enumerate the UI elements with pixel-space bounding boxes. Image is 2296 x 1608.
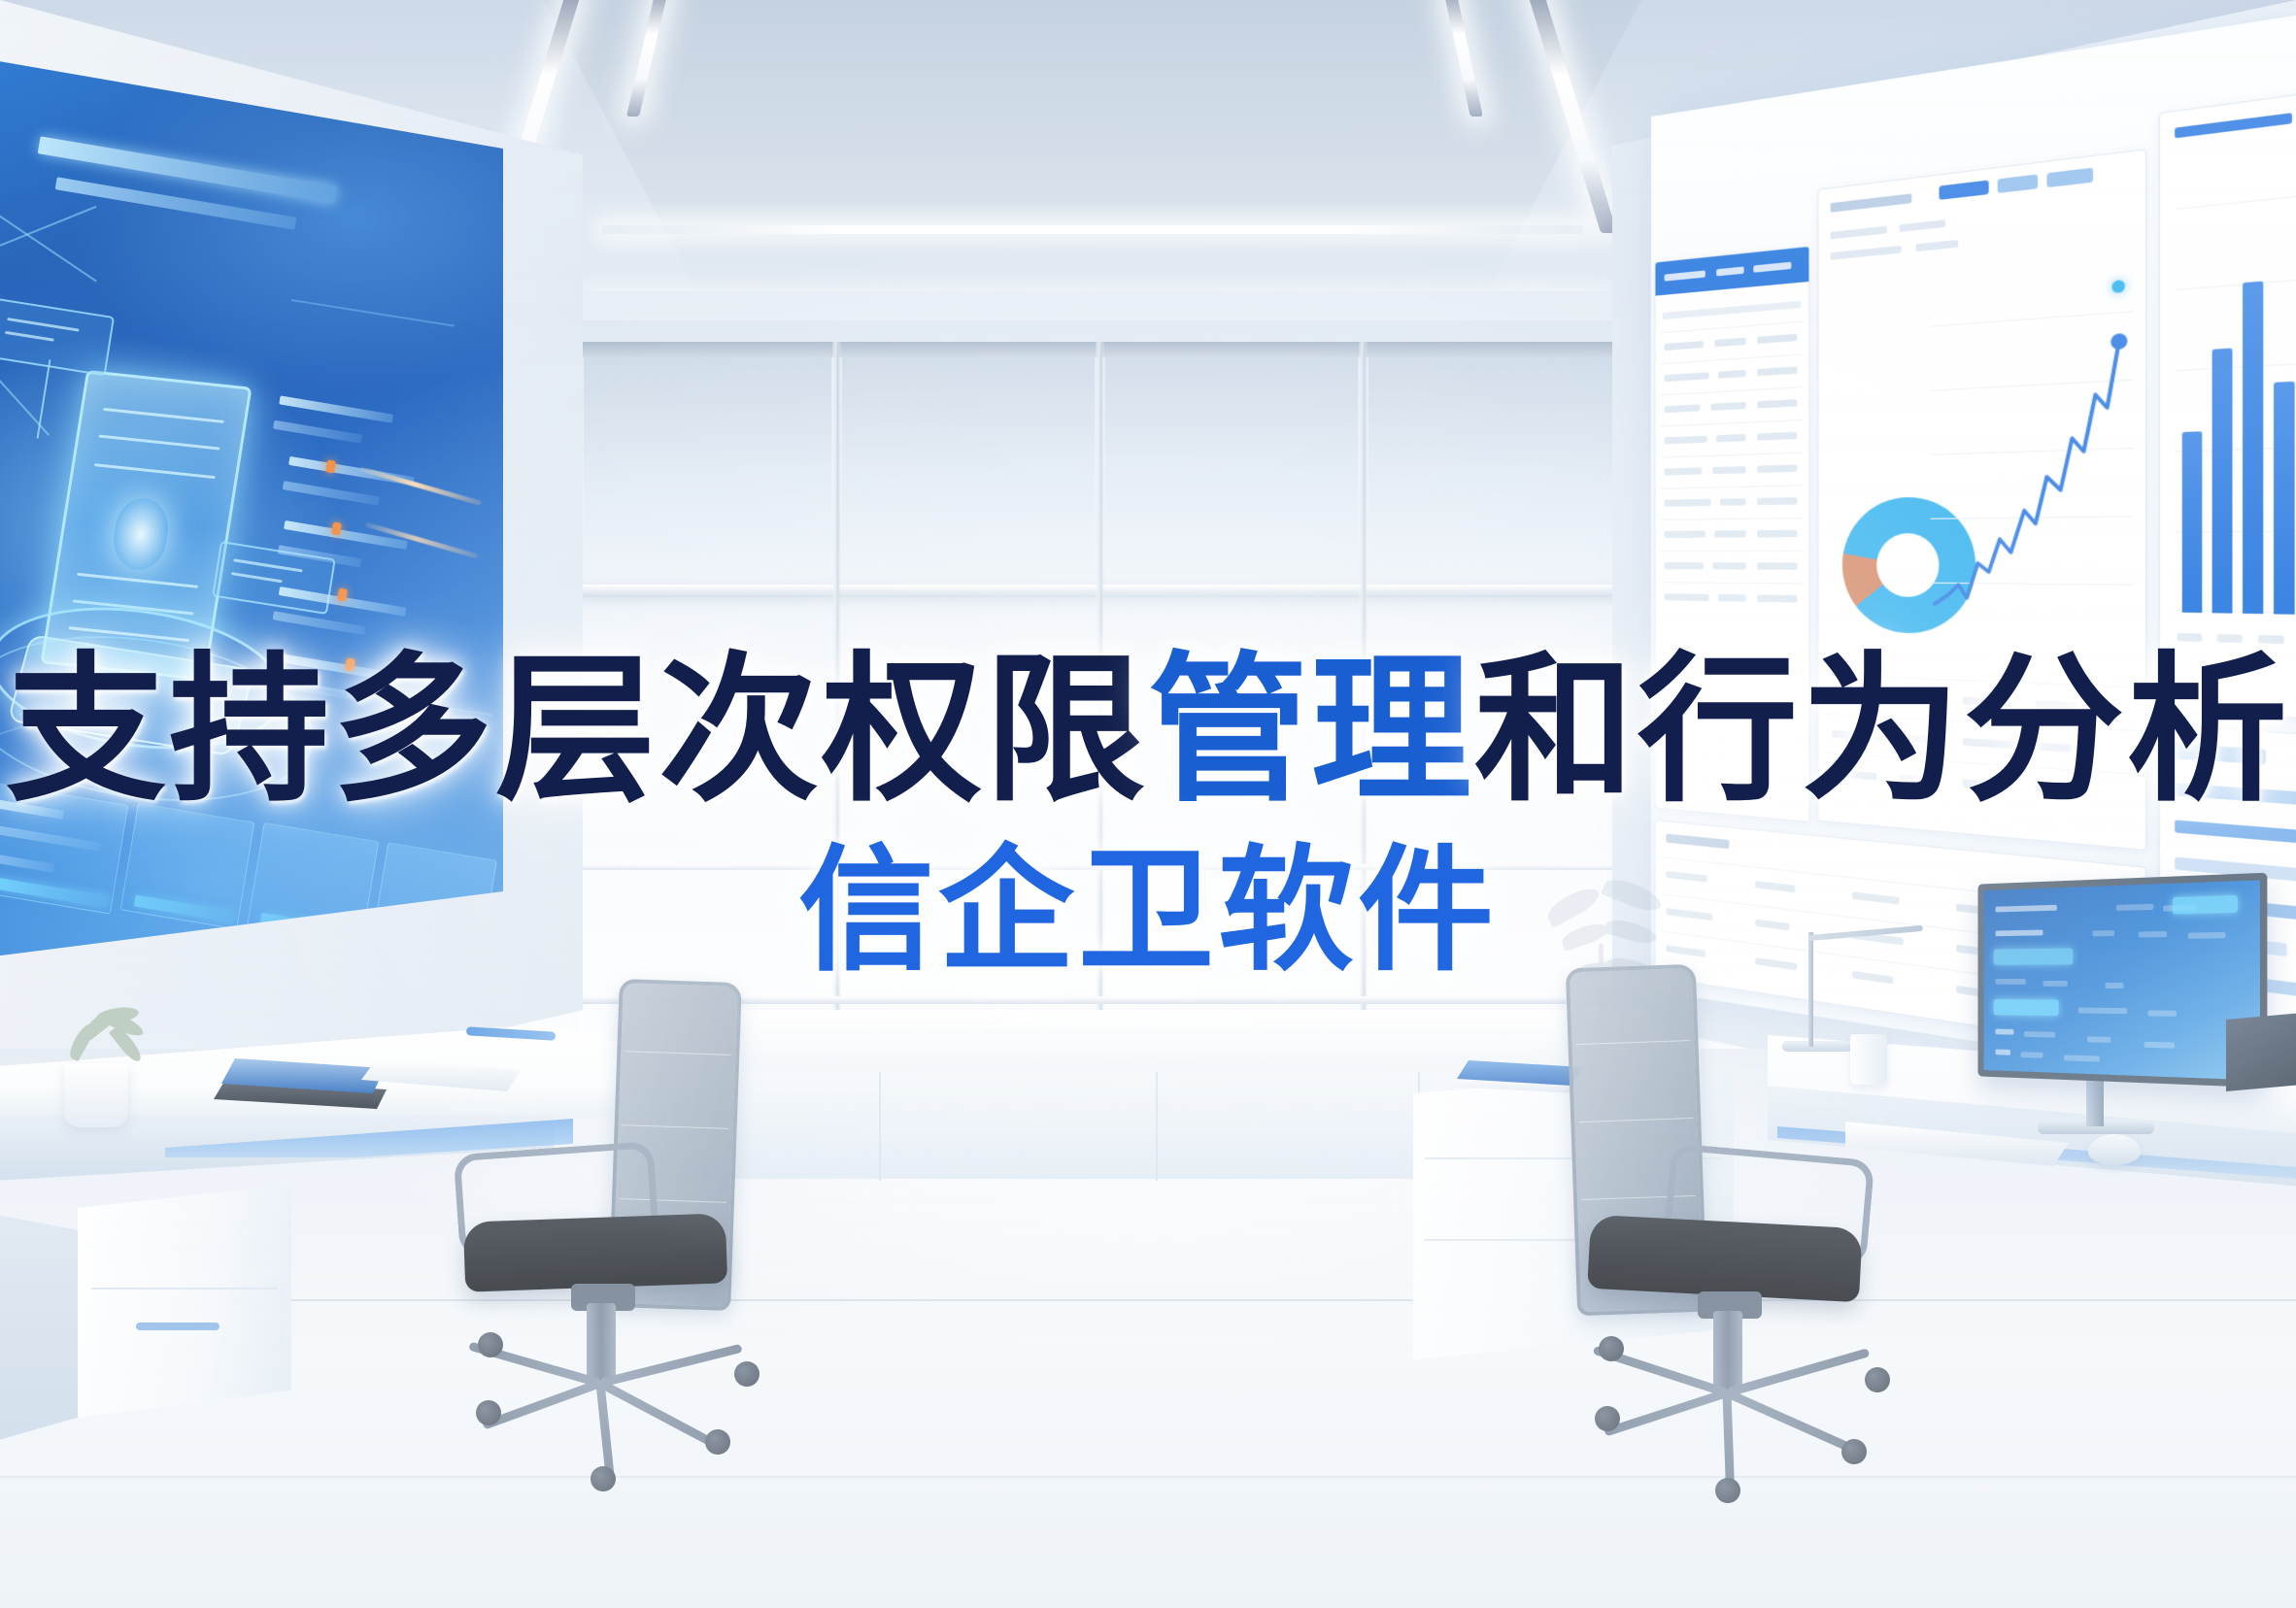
mouse[interactable]: [2088, 1134, 2141, 1165]
wall-mounted-display[interactable]: [0, 56, 503, 959]
counter-seam: [1156, 1072, 1158, 1181]
chair-caster: [1865, 1367, 1890, 1392]
chair-caster: [476, 1400, 501, 1425]
filter-tag[interactable]: [1998, 174, 2038, 193]
active-menu-row[interactable]: [1994, 949, 2073, 965]
desk-monitor[interactable]: [1978, 873, 2268, 1089]
desk-lamp-pole: [1808, 932, 1813, 1047]
chair-caster: [734, 1361, 760, 1387]
floor-seam: [0, 1299, 2296, 1301]
window-pane: [1105, 357, 1358, 585]
cup: [1850, 1034, 1887, 1085]
window-rail: [578, 864, 1622, 870]
table-header: [1656, 247, 1809, 295]
chair-post: [587, 1303, 616, 1385]
pedestal-left-side: [0, 1208, 84, 1451]
floor-seam: [0, 1476, 2296, 1478]
window-mullion: [1096, 342, 1104, 1058]
table-panel[interactable]: [1655, 246, 1810, 822]
chair-caster: [1841, 1439, 1867, 1464]
filter-tag[interactable]: [1939, 180, 1988, 199]
window-mullion: [1359, 342, 1367, 1058]
plant-pot: [64, 1063, 128, 1127]
counter-seam: [879, 1072, 881, 1181]
pedestal-left[interactable]: [78, 1185, 291, 1418]
highlighted-row[interactable]: [1994, 999, 2059, 1016]
kpi-overview-panel[interactable]: [1817, 149, 2146, 851]
chair-caster: [705, 1429, 730, 1455]
chair-seat: [463, 1213, 727, 1291]
ceiling-light-strip-far: [602, 225, 1583, 234]
hero-banner-scene: 支持多层次权限管理和行为分析 信企卫软件: [0, 0, 2296, 1608]
trend-line-chart: [1931, 265, 2134, 641]
chair-caster: [478, 1332, 503, 1357]
window-pane: [584, 357, 831, 585]
glazed-window-wall: [578, 320, 1622, 1058]
chair-caster: [591, 1466, 616, 1491]
chair-caster: [1599, 1336, 1624, 1361]
filter-tag[interactable]: [2046, 168, 2093, 188]
drawer-handle[interactable]: [136, 1323, 219, 1330]
ceiling-recess: [544, 0, 1641, 291]
laptop[interactable]: [2226, 1012, 2296, 1091]
chair-post: [1713, 1311, 1742, 1394]
desk-lamp-base: [1782, 1041, 1852, 1052]
window-pane: [1368, 357, 1616, 585]
chair-seat: [1587, 1215, 1863, 1303]
chair-caster: [1715, 1478, 1740, 1503]
window-pane: [842, 357, 1095, 585]
bar-chart: [2175, 134, 2296, 617]
bar-chart-panel[interactable]: [2159, 76, 2296, 725]
window-mullion: [832, 342, 841, 1058]
chair-caster: [1595, 1406, 1620, 1431]
